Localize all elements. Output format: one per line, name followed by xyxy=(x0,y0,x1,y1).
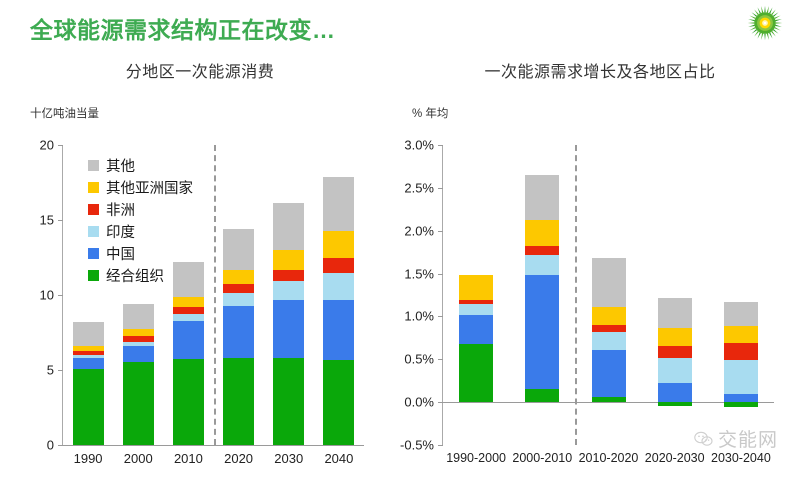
bar-segment[interactable] xyxy=(658,358,692,384)
legend-swatch-icon xyxy=(88,226,99,237)
legend-swatch-icon xyxy=(88,160,99,171)
bar-segment[interactable] xyxy=(459,315,493,344)
bar-stack[interactable] xyxy=(459,275,493,402)
y-axis-tick-mark xyxy=(58,370,63,371)
bar-segment[interactable] xyxy=(658,346,692,358)
bar-segment[interactable] xyxy=(273,358,304,445)
bar-segment[interactable] xyxy=(273,270,304,281)
slide-title: 全球能源需求结构正在改变… xyxy=(30,11,336,45)
bar-segment[interactable] xyxy=(592,350,626,397)
legend-swatch-icon xyxy=(88,270,99,281)
bar-segment[interactable] xyxy=(173,297,204,308)
bar-segment[interactable] xyxy=(658,383,692,402)
y-axis-tick-mark xyxy=(58,445,63,446)
bar-stack[interactable] xyxy=(223,229,254,445)
bar-segment[interactable] xyxy=(658,328,692,346)
bar-segment[interactable] xyxy=(724,394,758,403)
bar-segment[interactable] xyxy=(273,281,304,301)
history-forecast-divider xyxy=(575,145,577,445)
bar-segment[interactable] xyxy=(724,302,758,326)
bar-segment[interactable] xyxy=(73,358,104,369)
y-axis-tick-mark xyxy=(438,188,443,189)
chart-legend: 其他其他亚洲国家非洲印度中国经合组织 xyxy=(88,154,193,286)
wechat-icon xyxy=(694,431,713,447)
legend-item-label: 其他亚洲国家 xyxy=(106,177,193,198)
y-axis-tick-mark xyxy=(438,445,443,446)
y-axis-tick-mark xyxy=(438,145,443,146)
bar-segment[interactable] xyxy=(658,298,692,328)
bar-segment[interactable] xyxy=(223,293,254,306)
bar-segment[interactable] xyxy=(323,231,354,258)
bar-stack[interactable] xyxy=(123,304,154,445)
bar-stack-negative[interactable] xyxy=(658,402,692,405)
bar-segment[interactable] xyxy=(223,284,254,293)
left-chart-y-axis-unit: 十亿吨油当量 xyxy=(30,105,99,121)
y-axis-tick-mark xyxy=(438,359,443,360)
bar-segment[interactable] xyxy=(73,322,104,346)
bar-segment[interactable] xyxy=(525,275,559,389)
x-axis-tick-label: 2020 xyxy=(224,451,253,466)
legend-swatch-icon xyxy=(88,182,99,193)
bar-segment[interactable] xyxy=(459,275,493,300)
bar-segment[interactable] xyxy=(73,369,104,445)
legend-item[interactable]: 其他亚洲国家 xyxy=(88,176,193,198)
bar-segment[interactable] xyxy=(323,177,354,231)
bar-segment[interactable] xyxy=(223,306,254,359)
bar-segment[interactable] xyxy=(525,175,559,220)
bar-segment[interactable] xyxy=(525,220,559,246)
y-axis-tick-mark xyxy=(438,231,443,232)
bar-segment[interactable] xyxy=(273,300,304,358)
watermark-text: 交能网 xyxy=(718,425,778,452)
y-axis-tick-mark xyxy=(58,220,63,221)
bar-segment[interactable] xyxy=(223,270,254,284)
right-chart-title: 一次能源需求增长及各地区占比 xyxy=(400,58,800,82)
bar-stack[interactable] xyxy=(592,258,626,402)
bar-segment[interactable] xyxy=(724,402,758,407)
bar-stack[interactable] xyxy=(273,203,304,445)
bar-stack-negative[interactable] xyxy=(724,402,758,407)
bp-helios-logo xyxy=(747,5,783,41)
chart-panel-growth: 一次能源需求增长及各地区占比 % 年均 -0.5%0.0%0.5%1.0%1.5… xyxy=(400,48,800,486)
bar-segment[interactable] xyxy=(525,389,559,402)
bar-segment[interactable] xyxy=(173,359,204,445)
bar-segment[interactable] xyxy=(173,321,204,359)
bar-segment[interactable] xyxy=(592,332,626,350)
bar-segment[interactable] xyxy=(123,362,154,445)
bar-segment[interactable] xyxy=(323,273,354,301)
legend-item[interactable]: 其他 xyxy=(88,154,193,176)
x-axis-tick-label: 2030-2040 xyxy=(711,451,771,465)
bar-segment[interactable] xyxy=(459,344,493,402)
watermark: 交能网 xyxy=(694,425,778,452)
legend-item[interactable]: 经合组织 xyxy=(88,264,193,286)
x-axis-tick-label: 2010-2020 xyxy=(579,451,639,465)
history-forecast-divider xyxy=(214,145,216,445)
x-axis-tick-label: 2020-2030 xyxy=(645,451,705,465)
bar-segment[interactable] xyxy=(123,346,154,362)
bar-segment[interactable] xyxy=(273,250,304,270)
bar-segment[interactable] xyxy=(323,258,354,272)
bar-segment[interactable] xyxy=(173,314,204,321)
x-axis-tick-label: 1990-2000 xyxy=(446,451,506,465)
legend-item[interactable]: 非洲 xyxy=(88,198,193,220)
legend-item-label: 非洲 xyxy=(106,199,135,220)
legend-item[interactable]: 中国 xyxy=(88,242,193,264)
y-axis-tick-mark xyxy=(438,402,443,403)
bar-stack[interactable] xyxy=(323,177,354,445)
bar-segment[interactable] xyxy=(173,307,204,314)
bar-segment[interactable] xyxy=(223,358,254,445)
bar-segment[interactable] xyxy=(724,360,758,393)
bar-segment[interactable] xyxy=(459,304,493,315)
x-axis-tick-label: 2040 xyxy=(324,451,353,466)
x-axis-tick-label: 2030 xyxy=(274,451,303,466)
y-axis-tick-mark xyxy=(438,274,443,275)
legend-swatch-icon xyxy=(88,204,99,215)
legend-item-label: 印度 xyxy=(106,221,135,242)
bar-segment[interactable] xyxy=(123,304,154,329)
y-axis-tick-mark xyxy=(58,145,63,146)
bar-stack[interactable] xyxy=(658,298,692,403)
bar-segment[interactable] xyxy=(724,343,758,360)
bar-segment[interactable] xyxy=(724,326,758,343)
legend-item-label: 其他 xyxy=(106,155,135,176)
x-axis-tick-label: 1990 xyxy=(74,451,103,466)
right-chart-plot-area: -0.5%0.0%0.5%1.0%1.5%2.0%2.5%3.0%1990-20… xyxy=(442,145,773,445)
bar-segment[interactable] xyxy=(658,402,692,405)
bar-segment[interactable] xyxy=(223,229,254,270)
bar-segment[interactable] xyxy=(273,203,304,250)
x-axis-tick-label: 2000-2010 xyxy=(512,451,572,465)
bar-stack[interactable] xyxy=(173,262,204,445)
y-axis-tick-label: -0.5% xyxy=(400,438,443,453)
y-axis-tick-mark xyxy=(58,295,63,296)
bar-segment[interactable] xyxy=(525,255,559,276)
bar-stack[interactable] xyxy=(525,175,559,402)
left-chart-baseline xyxy=(63,445,364,446)
bar-segment[interactable] xyxy=(592,325,626,332)
chart-panel-consumption: 分地区一次能源消费 十亿吨油当量 05101520199020002010202… xyxy=(0,48,400,486)
bar-segment[interactable] xyxy=(323,300,354,359)
x-axis-tick-label: 2010 xyxy=(174,451,203,466)
left-chart-title: 分地区一次能源消费 xyxy=(0,58,400,82)
legend-item-label: 中国 xyxy=(106,243,135,264)
bar-segment[interactable] xyxy=(525,246,559,255)
x-axis-tick-label: 2000 xyxy=(124,451,153,466)
legend-item-label: 经合组织 xyxy=(106,265,164,286)
bar-segment[interactable] xyxy=(123,329,154,337)
legend-swatch-icon xyxy=(88,248,99,259)
bar-segment[interactable] xyxy=(592,258,626,307)
bar-segment[interactable] xyxy=(323,360,354,446)
y-axis-tick-mark xyxy=(438,316,443,317)
bar-segment[interactable] xyxy=(592,397,626,402)
right-chart-y-axis-unit: % 年均 xyxy=(412,105,448,121)
legend-item[interactable]: 印度 xyxy=(88,220,193,242)
bar-stack[interactable] xyxy=(724,302,758,402)
bar-segment[interactable] xyxy=(592,307,626,325)
bar-stack[interactable] xyxy=(73,322,104,445)
